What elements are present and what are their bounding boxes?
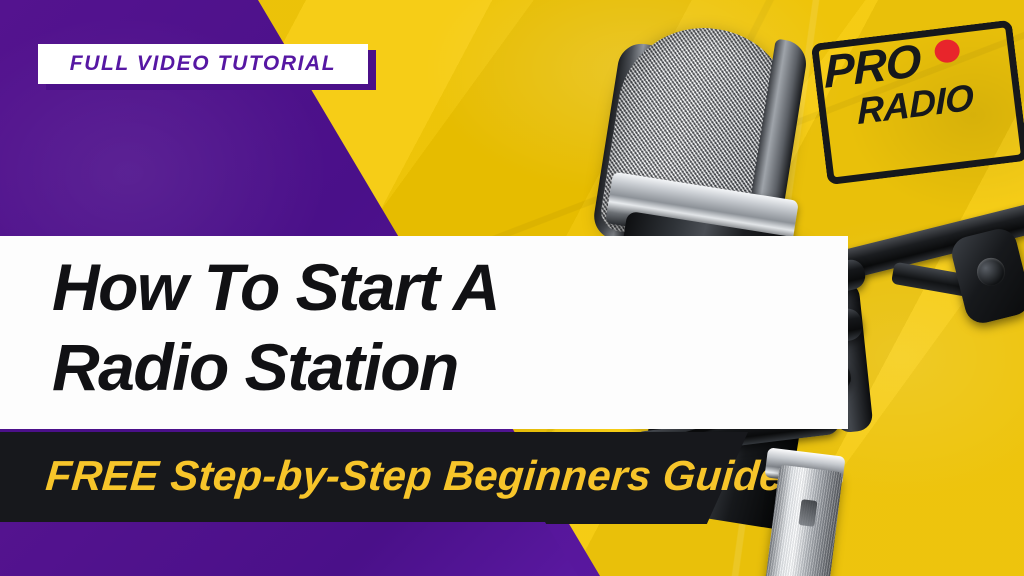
subtitle-text: FREE Step-by-Step Beginners Guide! bbox=[44, 452, 799, 500]
page-title-line-1: How To Start A bbox=[52, 254, 499, 320]
mic-stand-notch bbox=[798, 499, 817, 527]
badge-label: FULL VIDEO TUTORIAL bbox=[70, 52, 336, 76]
video-thumbnail: FULL VIDEO TUTORIAL PRO RADIO How To Sta… bbox=[0, 0, 1024, 576]
full-video-tutorial-badge: FULL VIDEO TUTORIAL bbox=[38, 44, 368, 84]
pro-radio-logo: PRO RADIO bbox=[804, 14, 1024, 180]
boom-arm-knuckle bbox=[948, 225, 1024, 326]
page-title-line-2: Radio Station bbox=[52, 334, 458, 400]
bottom-purple-wedge bbox=[0, 522, 600, 576]
